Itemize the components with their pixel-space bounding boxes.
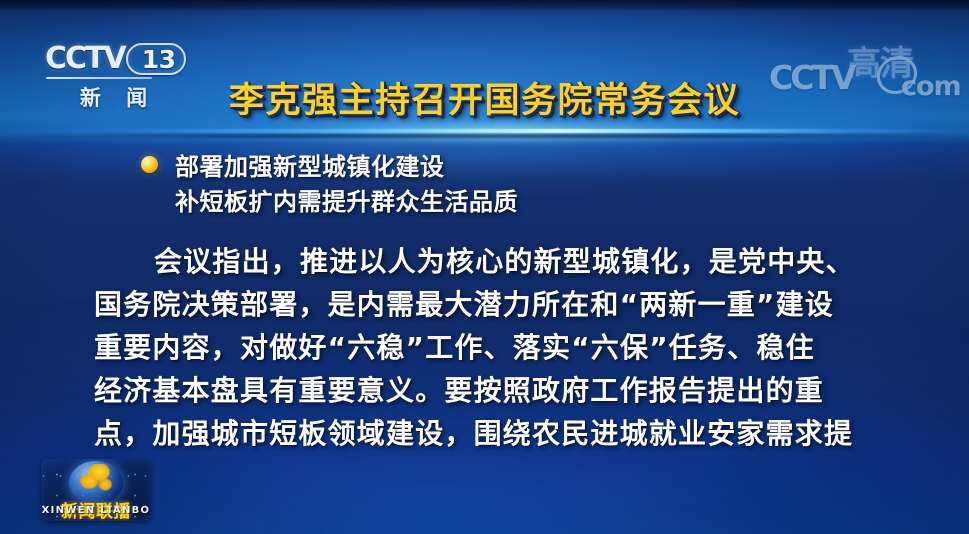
subtitle-block: 部署加强新型城镇化建设 补短板扩内需提升群众生活品质 [141, 150, 901, 220]
page-title: 李克强主持召开国务院常务会议 [0, 72, 969, 123]
body-line-4: 经济基本盘具有重要意义。要按照政府工作报告提出的重 [94, 369, 880, 412]
globe-landmass-icon [75, 464, 117, 497]
channel-number-capsule: 13 [126, 43, 186, 75]
cctv-wordmark: CCTV [45, 42, 125, 76]
divider-shadow [0, 134, 969, 138]
body-line-1: 会议指出，推进以人为核心的新型城镇化，是党中央、 [94, 240, 880, 283]
channel-number: 13 [142, 45, 176, 74]
subtitle-line-2: 补短板扩内需提升群众生活品质 [175, 185, 901, 220]
subtitle-line-1: 部署加强新型城镇化建设 [175, 150, 901, 185]
body-line-2: 国务院决策部署，是内需最大潜力所在和“两新一重”建设 [94, 283, 880, 326]
subtitle-lines: 部署加强新型城镇化建设 补短板扩内需提升群众生活品质 [175, 150, 901, 220]
bullet-dot-icon [141, 156, 158, 173]
body-line-5: 点，加强城市短板领域建设，围绕农民进城就业安家需求提 [94, 412, 880, 455]
body-line-3: 重要内容，对做好“六稳”工作、落实“六保”任务、稳住 [94, 326, 880, 369]
channel-logo-row: CCTV 13 [45, 42, 190, 76]
header-divider [0, 124, 969, 140]
divider-line [0, 129, 969, 133]
program-name-pinyin: XINWEN LIANBO [41, 505, 151, 516]
broadcast-screen: CCTV 13 新 闻 高清 CCTV com 李克强主持召开国务院常务会议 部… [0, 0, 969, 534]
body-paragraph: 会议指出，推进以人为核心的新型城镇化，是党中央、 国务院决策部署，是内需最大潜力… [94, 240, 880, 455]
program-badge: 新闻联播 XINWEN LIANBO [41, 459, 151, 521]
